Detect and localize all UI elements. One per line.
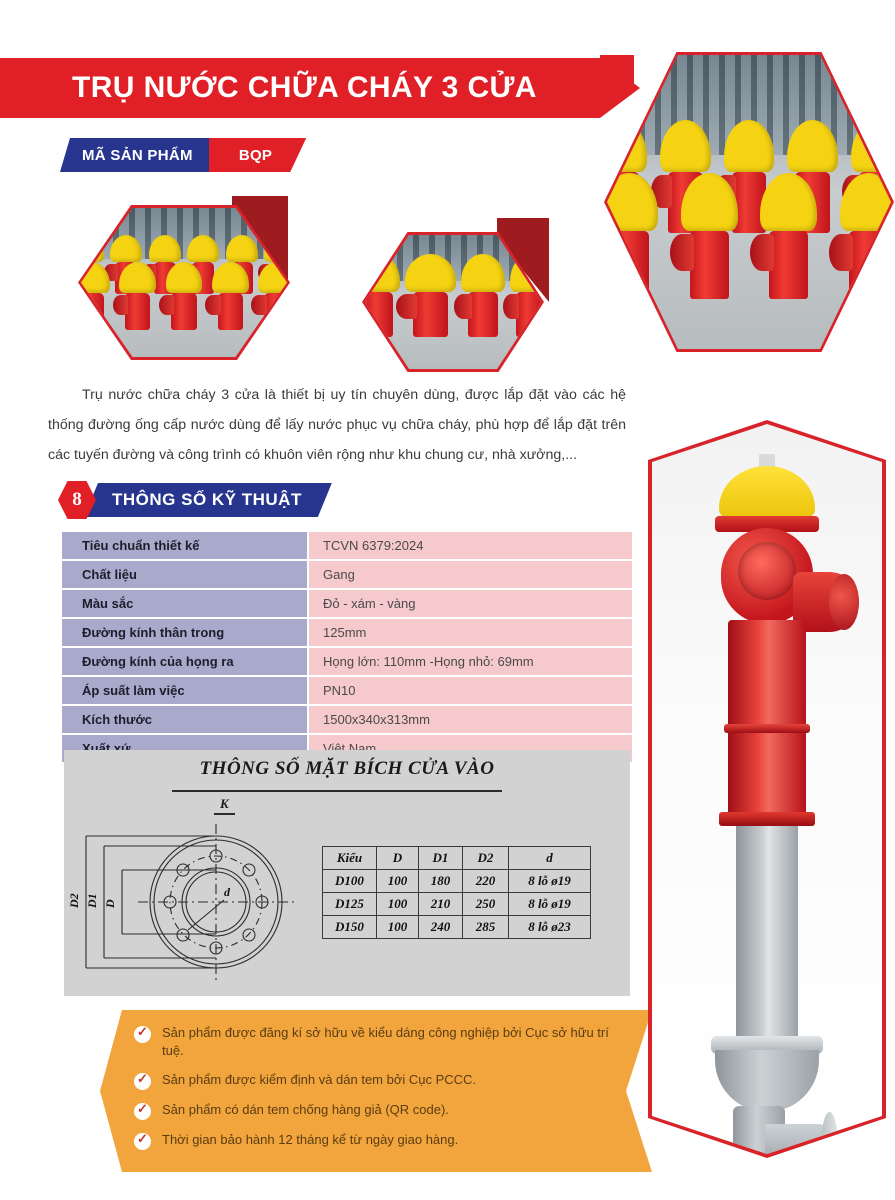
col-header-holes: d (509, 847, 591, 870)
cell: 8 lỗ ø19 (509, 870, 591, 893)
table-row: D150 100 240 285 8 lỗ ø23 (323, 916, 591, 939)
list-item: Sản phẩm có dán tem chống hàng giả (QR c… (134, 1101, 612, 1120)
check-circle-icon (134, 1103, 151, 1120)
feature-text: Sản phẩm được đăng kí sở hữu về kiểu dán… (162, 1024, 612, 1060)
spec-value: TCVN 6379:2024 (309, 532, 632, 559)
spec-key: Kích thước (62, 706, 307, 733)
feature-text: Sản phẩm có dán tem chống hàng giả (QR c… (162, 1101, 449, 1119)
dim-label-d1: D1 (85, 893, 99, 909)
product-description: Trụ nước chữa cháy 3 cửa là thiết bị uy … (48, 380, 626, 470)
cell: 100 (377, 916, 419, 939)
spec-key: Chất liệu (62, 561, 307, 588)
spec-value: 1500x340x313mm (309, 706, 632, 733)
spec-key: Màu sắc (62, 590, 307, 617)
spec-key: Đường kính của họng ra (62, 648, 307, 675)
list-item: Sản phẩm được đăng kí sở hữu về kiểu dán… (134, 1024, 612, 1060)
flange-spec-table: Kiểu D D1 D2 d D100 100 180 220 8 lỗ ø19… (322, 846, 591, 939)
table-header-row: Kiểu D D1 D2 d (323, 847, 591, 870)
dim-label-d: D (103, 899, 117, 909)
hydrant-yellow-cap (719, 466, 815, 518)
cell: 210 (419, 893, 463, 916)
table-row: Kích thước 1500x340x313mm (62, 706, 632, 733)
spec-value: Gang (309, 561, 632, 588)
cell: D100 (323, 870, 377, 893)
cell: 100 (377, 870, 419, 893)
product-code-label: MÃ SẢN PHẨM (60, 138, 219, 172)
spec-table: Tiêu chuẩn thiết kế TCVN 6379:2024 Chất … (62, 532, 632, 764)
feature-text: Thời gian bảo hành 12 tháng kể từ ngày g… (162, 1131, 458, 1149)
spec-key: Đường kính thân trong (62, 619, 307, 646)
table-row: D125 100 210 250 8 lỗ ø19 (323, 893, 591, 916)
table-row: Đường kính thân trong 125mm (62, 619, 632, 646)
check-circle-icon (134, 1026, 151, 1043)
hydrant-body (728, 620, 806, 816)
hex-photo-top-right (604, 52, 894, 352)
features-banner: Sản phẩm được đăng kí sở hữu về kiểu dán… (100, 1010, 652, 1172)
flange-drawing-panel: THÔNG SỐ MẶT BÍCH CỬA VÀO K (64, 750, 630, 996)
cell: 240 (419, 916, 463, 939)
spec-section-title: THÔNG SỐ KỸ THUẬT (84, 483, 332, 517)
check-circle-icon (134, 1073, 151, 1090)
cell: 180 (419, 870, 463, 893)
col-header-d2: D2 (463, 847, 509, 870)
spec-value: Họng lớn: 110mm -Họng nhỏ: 69mm (309, 648, 632, 675)
main-product-image (652, 424, 882, 1154)
cell: D125 (323, 893, 377, 916)
spec-value: 125mm (309, 619, 632, 646)
spec-value: PN10 (309, 677, 632, 704)
hydrant-outlet-cap (829, 574, 859, 630)
hydrant-riser-pipe (736, 826, 798, 1046)
main-product-frame (648, 420, 886, 1158)
col-header-d1: D1 (419, 847, 463, 870)
table-row: Chất liệu Gang (62, 561, 632, 588)
spec-section-header: 8 THÔNG SỐ KỸ THUẬT (58, 480, 332, 520)
product-code-value: BQP (209, 138, 306, 172)
list-item: Thời gian bảo hành 12 tháng kể từ ngày g… (134, 1131, 612, 1150)
spec-key: Tiêu chuẩn thiết kế (62, 532, 307, 559)
hydrant-operating-wheel (738, 542, 796, 600)
table-row: Đường kính của họng ra Họng lớn: 110mm -… (62, 648, 632, 675)
feature-text: Sản phẩm được kiểm định và dán tem bởi C… (162, 1071, 476, 1089)
list-item: Sản phẩm được kiểm định và dán tem bởi C… (134, 1071, 612, 1090)
hex-photo-top-right-image (607, 55, 891, 349)
hydrant-inlet-flange (821, 1112, 838, 1154)
product-datasheet-page: TRỤ NƯỚC CHỮA CHÁY 3 CỬA MÃ SẢN PHẨM BQP (0, 0, 895, 1200)
table-row: Tiêu chuẩn thiết kế TCVN 6379:2024 (62, 532, 632, 559)
col-header-d: D (377, 847, 419, 870)
cell: 250 (463, 893, 509, 916)
check-circle-icon (134, 1133, 151, 1150)
cell: 220 (463, 870, 509, 893)
cell: D150 (323, 916, 377, 939)
spec-value: Đỏ - xám - vàng (309, 590, 632, 617)
table-row: Áp suất làm việc PN10 (62, 677, 632, 704)
cell: 8 lỗ ø23 (509, 916, 591, 939)
col-header-kieu: Kiểu (323, 847, 377, 870)
table-row: D100 100 180 220 8 lỗ ø19 (323, 870, 591, 893)
cell: 100 (377, 893, 419, 916)
product-code-badge: MÃ SẢN PHẨM BQP (60, 138, 306, 172)
spec-key: Áp suất làm việc (62, 677, 307, 704)
dim-label-d2: D2 (67, 893, 81, 909)
page-title: TRỤ NƯỚC CHỮA CHÁY 3 CỬA (72, 71, 537, 105)
cell: 8 lỗ ø19 (509, 893, 591, 916)
dim-label-hole: d (224, 885, 231, 899)
page-title-banner: TRỤ NƯỚC CHỮA CHÁY 3 CỬA (0, 58, 640, 118)
table-row: Màu sắc Đỏ - xám - vàng (62, 590, 632, 617)
cell: 285 (463, 916, 509, 939)
